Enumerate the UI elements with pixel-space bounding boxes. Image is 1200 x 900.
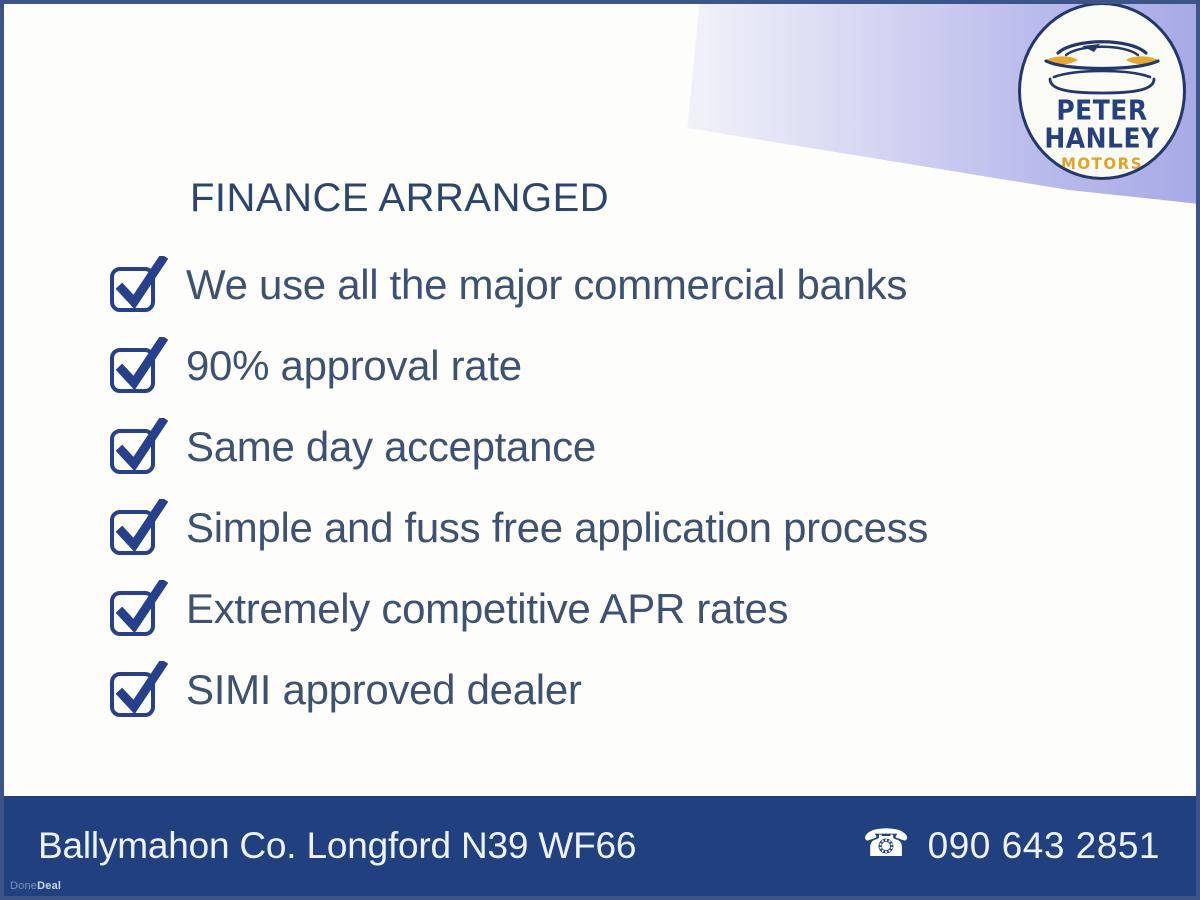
list-item: We use all the major commercial banks bbox=[108, 244, 1108, 325]
checkbox-checked-icon bbox=[108, 337, 170, 395]
checkbox-checked-icon bbox=[108, 256, 170, 314]
feature-list: We use all the major commercial banks 90… bbox=[108, 244, 1108, 730]
list-item-label: Extremely competitive APR rates bbox=[186, 588, 788, 630]
list-item-label: 90% approval rate bbox=[186, 345, 522, 387]
footer-contact-bar: Ballymahon Co. Longford N39 WF66 ☎ 090 6… bbox=[4, 796, 1196, 896]
checkbox-checked-icon bbox=[108, 580, 170, 638]
list-item: Extremely competitive APR rates bbox=[108, 568, 1108, 649]
list-item-label: We use all the major commercial banks bbox=[186, 264, 907, 306]
advert-card: PETER HANLEY MOTORS FINANCE ARRANGED We … bbox=[0, 0, 1200, 900]
list-item: 90% approval rate bbox=[108, 325, 1108, 406]
list-item-label: SIMI approved dealer bbox=[186, 669, 582, 711]
checkbox-checked-icon bbox=[108, 418, 170, 476]
list-item: SIMI approved dealer bbox=[108, 649, 1108, 730]
list-item: Same day acceptance bbox=[108, 406, 1108, 487]
logo-sub-name: MOTORS bbox=[1061, 157, 1143, 173]
checkbox-checked-icon bbox=[108, 499, 170, 557]
list-item: Simple and fuss free application process bbox=[108, 487, 1108, 568]
logo-brand-name: PETER HANLEY bbox=[1021, 96, 1183, 152]
watermark-suffix: Deal bbox=[37, 880, 61, 892]
page-title: FINANCE ARRANGED bbox=[190, 176, 609, 221]
list-item-label: Simple and fuss free application process bbox=[186, 507, 928, 549]
dealer-address: Ballymahon Co. Longford N39 WF66 bbox=[38, 825, 636, 867]
checkbox-checked-icon bbox=[108, 661, 170, 719]
watermark-prefix: Done bbox=[10, 880, 37, 892]
phone-number[interactable]: 090 643 2851 bbox=[928, 825, 1160, 867]
donedeal-watermark: DoneDeal bbox=[10, 880, 61, 892]
car-front-logo-icon bbox=[1036, 31, 1168, 97]
list-item-label: Same day acceptance bbox=[186, 426, 596, 468]
telephone-icon: ☎ bbox=[862, 825, 909, 863]
dealer-logo-badge: PETER HANLEY MOTORS bbox=[1018, 2, 1186, 180]
phone-group[interactable]: ☎ 090 643 2851 bbox=[862, 825, 1160, 867]
